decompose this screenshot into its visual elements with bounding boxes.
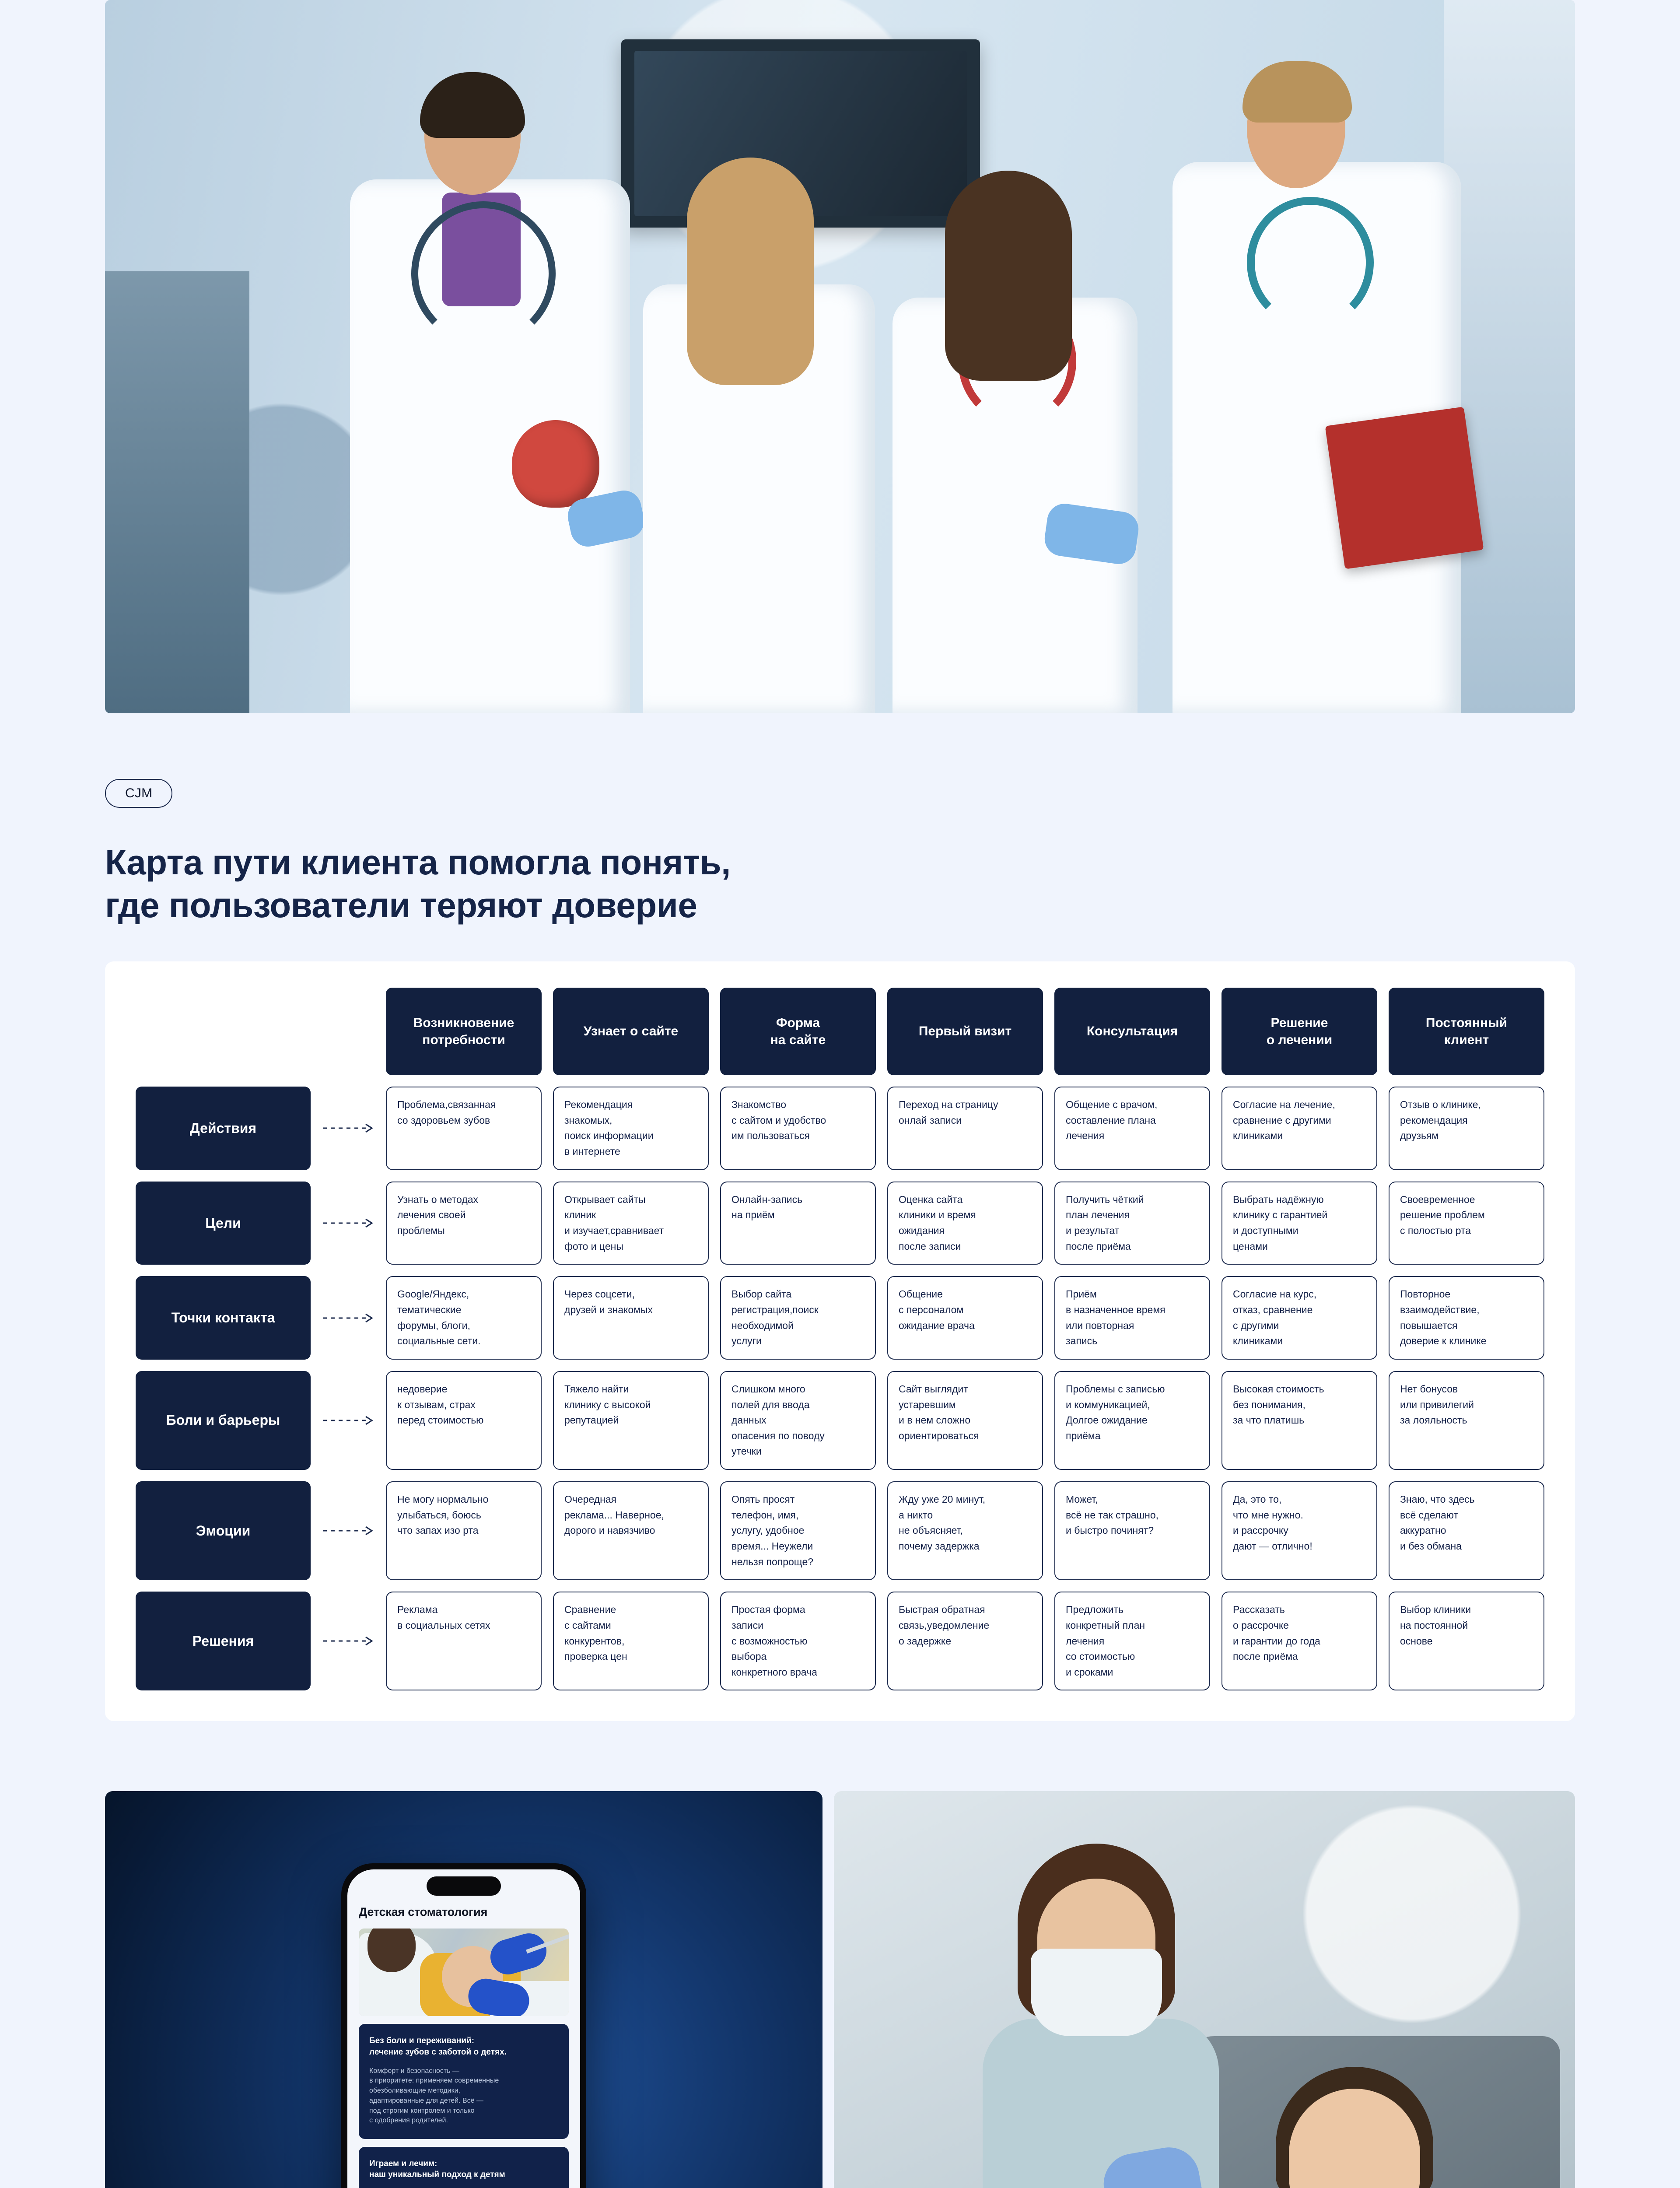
cjm-cell: Предложить конкретный план лечения со ст… bbox=[1054, 1592, 1210, 1690]
cjm-cell: Очередная реклама... Наверное, дорого и … bbox=[553, 1481, 709, 1580]
arrow-right-icon bbox=[322, 1182, 374, 1265]
doctor-figure-4 bbox=[1146, 31, 1479, 713]
cjm-cell: Переход на страницу онлай записи bbox=[887, 1087, 1043, 1170]
cjm-cell: Приём в назначенное время или повторная … bbox=[1054, 1276, 1210, 1360]
arrow-right-icon bbox=[322, 1592, 374, 1690]
cjm-cell: Выбрать надёжную клинику с гарантией и д… bbox=[1221, 1182, 1377, 1265]
block-body: Комфорт и безопасность — в приоритете: п… bbox=[369, 2066, 558, 2126]
cjm-stage-header: Консультация bbox=[1054, 988, 1210, 1075]
cjm-cell: Оценка сайта клиники и время ожидания по… bbox=[887, 1182, 1043, 1265]
cjm-cell: Узнать о методах лечения своей проблемы bbox=[386, 1182, 542, 1265]
stethoscope-icon bbox=[411, 201, 556, 346]
cjm-cell: Сайт выглядит устаревшим и в нем сложно … bbox=[887, 1371, 1043, 1470]
cjm-stage-header: Форма на сайте bbox=[720, 988, 876, 1075]
child-patient-figure bbox=[1210, 2036, 1534, 2188]
cjm-row-label: Цели bbox=[136, 1182, 311, 1265]
cjm-corner-cell bbox=[136, 988, 311, 1075]
cjm-cell: Через соцсети, друзей и знакомых bbox=[553, 1276, 709, 1360]
cjm-cell: Тяжело найти клинику с высокой репутацие… bbox=[553, 1371, 709, 1470]
red-folder bbox=[1325, 407, 1484, 569]
cjm-stage-header: Постоянный клиент bbox=[1389, 988, 1544, 1075]
cjm-cell: Согласие на лечение, сравнение с другими… bbox=[1221, 1087, 1377, 1170]
landing-page: CJM Карта пути клиента помогла понять, г… bbox=[0, 0, 1680, 2188]
cjm-cell: Общение с персоналом ожидание врача bbox=[887, 1276, 1043, 1360]
doctor-figure-2 bbox=[621, 92, 892, 713]
clinic-team-illustration bbox=[105, 0, 1575, 713]
cjm-cell: Простая форма записи с возможностью выбо… bbox=[720, 1592, 876, 1690]
hair bbox=[687, 158, 814, 385]
cjm-cell: Выбор клиники на постоянной основе bbox=[1389, 1592, 1544, 1690]
app-content-block: Без боли и переживаний: лечение зубов с … bbox=[359, 2024, 569, 2139]
anatomical-heart-model bbox=[512, 420, 599, 508]
dentist-figure bbox=[965, 1844, 1236, 2188]
cjm-cell: Открывает сайты клиник и изучает,сравнив… bbox=[553, 1182, 709, 1265]
cjm-row-label: Боли и барьеры bbox=[136, 1371, 311, 1470]
cjm-cell: Согласие на курс, отказ, сравнение с дру… bbox=[1221, 1276, 1377, 1360]
cjm-table-card: Возникновение потребностиУзнает о сайтеФ… bbox=[105, 961, 1575, 1721]
cjm-cell: Отзыв о клинике, рекомендация друзьям bbox=[1389, 1087, 1544, 1170]
cjm-cell: Реклама в социальных сетях bbox=[386, 1592, 542, 1690]
cjm-cell: Знакомство с сайтом и удобство им пользо… bbox=[720, 1087, 876, 1170]
doctor-figure-1 bbox=[332, 48, 639, 713]
app-page-title: Детская стоматология bbox=[359, 1905, 569, 1919]
phone-notch bbox=[427, 1876, 501, 1896]
hero-image bbox=[105, 0, 1575, 713]
block-heading: Без боли и переживаний: лечение зубов с … bbox=[369, 2035, 558, 2057]
cjm-cell: Своевременное решение проблем с полостью… bbox=[1389, 1182, 1544, 1265]
clinic-photo-panel bbox=[834, 1791, 1575, 2188]
phone-screen: Детская стоматология Без бо bbox=[347, 1869, 580, 2188]
stethoscope-icon bbox=[1247, 197, 1374, 328]
cjm-row-label: Точки контакта bbox=[136, 1276, 311, 1360]
arrow-right-icon bbox=[322, 1371, 374, 1470]
cjm-cell: Жду уже 20 минут, а никто не объясняет, … bbox=[887, 1481, 1043, 1580]
showcase-section: Детская стоматология Без бо bbox=[105, 1791, 1575, 2188]
cjm-cell: Общение с врачом, составление плана лече… bbox=[1054, 1087, 1210, 1170]
cjm-cell: Не могу нормально улыбаться, боюсь что з… bbox=[386, 1481, 542, 1580]
cjm-cell: Слишком много полей для ввода данных опа… bbox=[720, 1371, 876, 1470]
app-content-block: Играем и лечим: наш уникальный подход к … bbox=[359, 2147, 569, 2188]
cjm-cell: Проблемы с записью и коммуникацией, Долг… bbox=[1054, 1371, 1210, 1470]
cjm-cell: Опять просят телефон, имя, услугу, удобн… bbox=[720, 1481, 876, 1580]
cjm-chip: CJM bbox=[105, 779, 172, 808]
cjm-cell: Сравнение с сайтами конкурентов, проверк… bbox=[553, 1592, 709, 1690]
arrow-right-icon bbox=[322, 1087, 374, 1170]
equipment-left bbox=[105, 271, 249, 713]
cjm-cell: недоверие к отзывам, страх перед стоимос… bbox=[386, 1371, 542, 1470]
cjm-cell: Рассказать о рассрочке и гарантии до год… bbox=[1221, 1592, 1377, 1690]
cjm-cell: Выбор сайта регистрация,поиск необходимо… bbox=[720, 1276, 876, 1360]
hero-section bbox=[105, 0, 1575, 713]
doctor-figure-3 bbox=[875, 101, 1155, 713]
cjm-stage-header: Возникновение потребности bbox=[386, 988, 542, 1075]
arrow-right-icon bbox=[322, 1481, 374, 1580]
cjm-cell: Получить чёткий план лечения и результат… bbox=[1054, 1182, 1210, 1265]
cjm-cell: Может, всё не так страшно, и быстро почи… bbox=[1054, 1481, 1210, 1580]
block-heading: Играем и лечим: наш уникальный подход к … bbox=[369, 2158, 558, 2180]
cjm-cell: Рекомендация знакомых, поиск информации … bbox=[553, 1087, 709, 1170]
face-mask-icon bbox=[1031, 1949, 1162, 2036]
cjm-stage-header: Узнает о сайте bbox=[553, 988, 709, 1075]
cjm-cell: Google/Яндекс, тематические форумы, блог… bbox=[386, 1276, 542, 1360]
cjm-row-label: Эмоции bbox=[136, 1481, 311, 1580]
cjm-row-label: Действия bbox=[136, 1087, 311, 1170]
arrow-right-icon bbox=[322, 1276, 374, 1360]
cjm-stage-header: Решение о лечении bbox=[1221, 988, 1377, 1075]
cjm-cell: Да, это то, что мне нужно. и рассрочку д… bbox=[1221, 1481, 1377, 1580]
cjm-title: Карта пути клиента помогла понять, где п… bbox=[105, 841, 1575, 926]
cjm-cell: Нет бонусов или привилегий за лояльность bbox=[1389, 1371, 1544, 1470]
cjm-cell: Знаю, что здесь всё сделают аккуратно и … bbox=[1389, 1481, 1544, 1580]
cjm-row-label: Решения bbox=[136, 1592, 311, 1690]
cjm-cell: Онлайн-запись на приём bbox=[720, 1182, 876, 1265]
app-hero-photo bbox=[359, 1929, 569, 2016]
cjm-grid: Возникновение потребностиУзнает о сайтеФ… bbox=[136, 988, 1544, 1690]
hair bbox=[1242, 61, 1352, 123]
cjm-cell: Повторное взаимодействие, повышается дов… bbox=[1389, 1276, 1544, 1360]
hair bbox=[420, 72, 525, 138]
cjm-corner-cell bbox=[322, 988, 374, 1075]
cjm-cell: Высокая стоимость без понимания, за что … bbox=[1221, 1371, 1377, 1470]
cjm-stage-header: Первый визит bbox=[887, 988, 1043, 1075]
cjm-cell: Быстрая обратная связь,уведомление о зад… bbox=[887, 1592, 1043, 1690]
cjm-cell: Проблема,связанная со здоровьем зубов bbox=[386, 1087, 542, 1170]
spacer bbox=[105, 713, 1575, 779]
phone-device: Детская стоматология Без бо bbox=[341, 1863, 586, 2188]
hair bbox=[945, 171, 1072, 381]
cjm-section: CJM Карта пути клиента помогла понять, г… bbox=[105, 713, 1575, 1721]
phone-mockup-panel: Детская стоматология Без бо bbox=[105, 1791, 822, 2188]
